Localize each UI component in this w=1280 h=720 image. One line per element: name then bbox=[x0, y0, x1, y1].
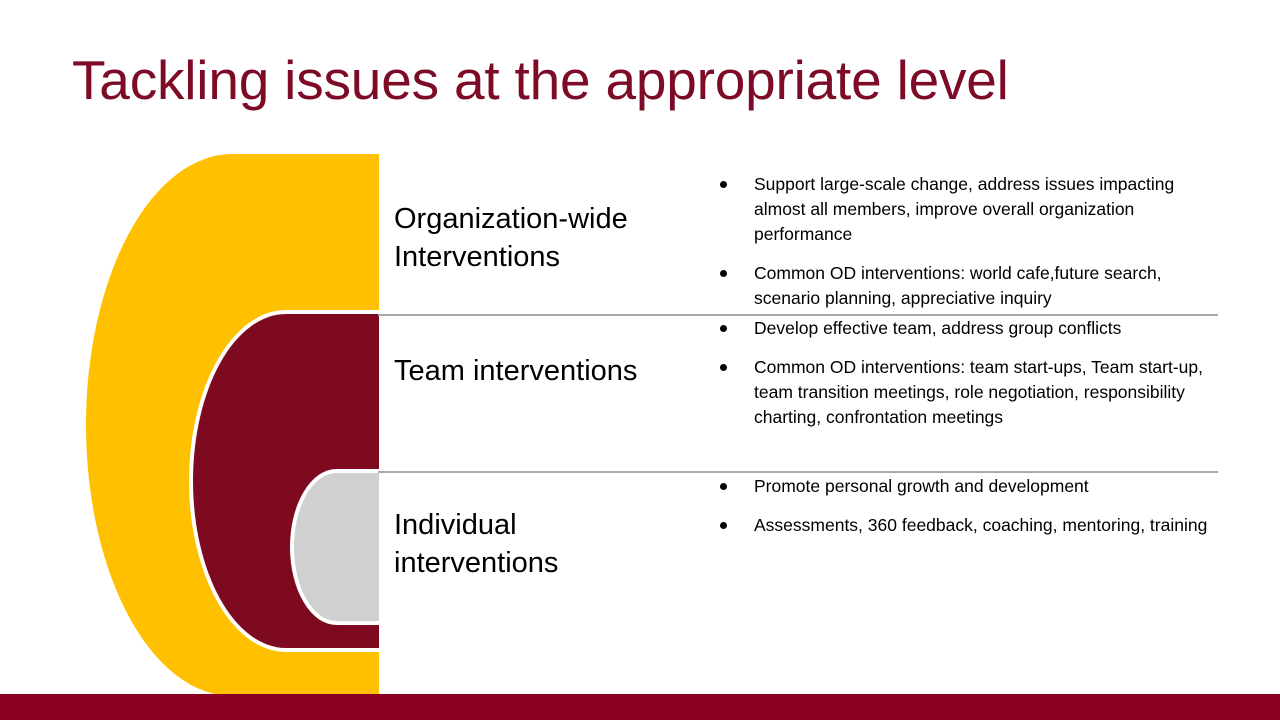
list-item: Common OD interventions: world cafe,futu… bbox=[708, 261, 1218, 311]
concentric-half-circles-graphic bbox=[0, 140, 400, 700]
bullet-text: Assessments, 360 feedback, coaching, men… bbox=[754, 515, 1207, 535]
list-item: Develop effective team, address group co… bbox=[708, 316, 1218, 341]
row-label-individual: Individual interventions bbox=[394, 506, 684, 582]
bullet-text: Promote personal growth and development bbox=[754, 476, 1089, 496]
bullet-dot-icon bbox=[720, 270, 727, 277]
slide-footer-bar bbox=[0, 694, 1280, 720]
content-row-individual: Individual interventions Promote persona… bbox=[378, 474, 1220, 624]
bullet-dot-icon bbox=[720, 181, 727, 188]
list-item: Assessments, 360 feedback, coaching, men… bbox=[708, 513, 1218, 538]
list-item: Common OD interventions: team start-ups,… bbox=[708, 355, 1218, 430]
content-row-team: Team interventions Develop effective tea… bbox=[378, 316, 1220, 470]
ring-inner-individual bbox=[294, 473, 379, 621]
bullet-list-individual: Promote personal growth and development … bbox=[708, 474, 1218, 552]
slide: Tackling issues at the appropriate level… bbox=[0, 0, 1280, 720]
bullet-dot-icon bbox=[720, 522, 727, 529]
content-row-organization-wide: Organization-wide Interventions Support … bbox=[378, 172, 1220, 314]
bullet-dot-icon bbox=[720, 483, 727, 490]
bullet-text: Common OD interventions: team start-ups,… bbox=[754, 357, 1203, 427]
row-label-organization-wide: Organization-wide Interventions bbox=[394, 200, 684, 276]
list-item: Support large-scale change, address issu… bbox=[708, 172, 1218, 247]
list-item: Promote personal growth and development bbox=[708, 474, 1218, 499]
bullet-text: Support large-scale change, address issu… bbox=[754, 174, 1174, 244]
page-title: Tackling issues at the appropriate level bbox=[72, 48, 1202, 112]
bullet-dot-icon bbox=[720, 364, 727, 371]
row-divider-2 bbox=[378, 471, 1218, 473]
bullet-list-team: Develop effective team, address group co… bbox=[708, 316, 1218, 444]
bullet-list-organization-wide: Support large-scale change, address issu… bbox=[708, 172, 1218, 325]
bullet-text: Develop effective team, address group co… bbox=[754, 318, 1121, 338]
bullet-dot-icon bbox=[720, 325, 727, 332]
row-label-team: Team interventions bbox=[394, 352, 684, 390]
bullet-text: Common OD interventions: world cafe,futu… bbox=[754, 263, 1162, 308]
